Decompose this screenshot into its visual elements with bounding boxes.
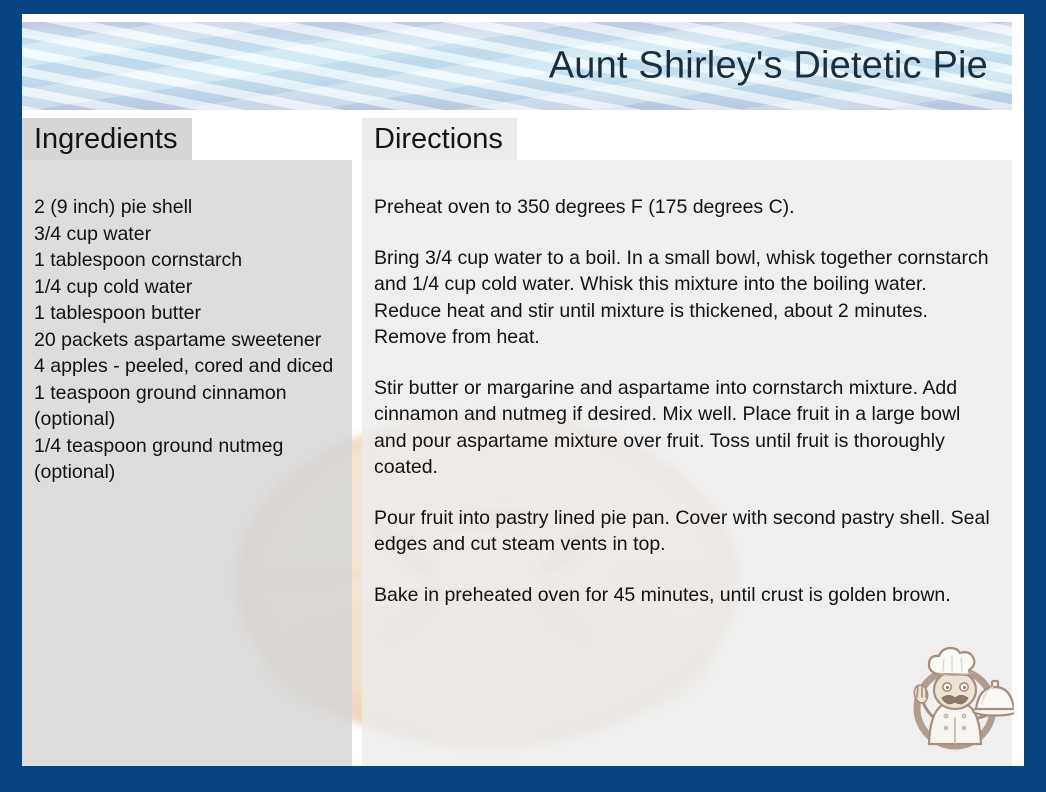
recipe-card: Aunt Shirley's Dietetic Pie xyxy=(0,0,1046,792)
ingredients-panel: 2 (9 inch) pie shell 3/4 cup water 1 tab… xyxy=(22,160,352,766)
list-item: 20 packets aspartame sweetener xyxy=(34,327,338,354)
ingredients-heading: Ingredients xyxy=(22,118,192,160)
directions-heading: Directions xyxy=(362,118,517,160)
direction-step: Stir butter or margarine and aspartame i… xyxy=(374,375,998,481)
ingredients-column: Ingredients 2 (9 inch) pie shell 3/4 cup… xyxy=(22,118,352,766)
direction-step: Bake in preheated oven for 45 minutes, u… xyxy=(374,582,998,609)
list-item: 1 tablespoon butter xyxy=(34,300,338,327)
list-item: 3/4 cup water xyxy=(34,221,338,248)
recipe-page: Aunt Shirley's Dietetic Pie xyxy=(22,14,1024,766)
title-banner: Aunt Shirley's Dietetic Pie xyxy=(22,22,1012,110)
list-item: 1/4 teaspoon ground nutmeg (optional) xyxy=(34,433,338,486)
direction-step: Bring 3/4 cup water to a boil. In a smal… xyxy=(374,245,998,351)
content-columns: Ingredients 2 (9 inch) pie shell 3/4 cup… xyxy=(22,118,1012,766)
list-item: 1 teaspoon ground cinnamon (optional) xyxy=(34,380,338,433)
direction-step: Preheat oven to 350 degrees F (175 degre… xyxy=(374,194,998,221)
list-item: 4 apples - peeled, cored and diced xyxy=(34,353,338,380)
list-item: 1 tablespoon cornstarch xyxy=(34,247,338,274)
chef-mascot-icon xyxy=(896,640,1014,758)
list-item: 2 (9 inch) pie shell xyxy=(34,194,338,221)
list-item: 1/4 cup cold water xyxy=(34,274,338,301)
page-title: Aunt Shirley's Dietetic Pie xyxy=(549,45,988,88)
direction-step: Pour fruit into pastry lined pie pan. Co… xyxy=(374,505,998,558)
